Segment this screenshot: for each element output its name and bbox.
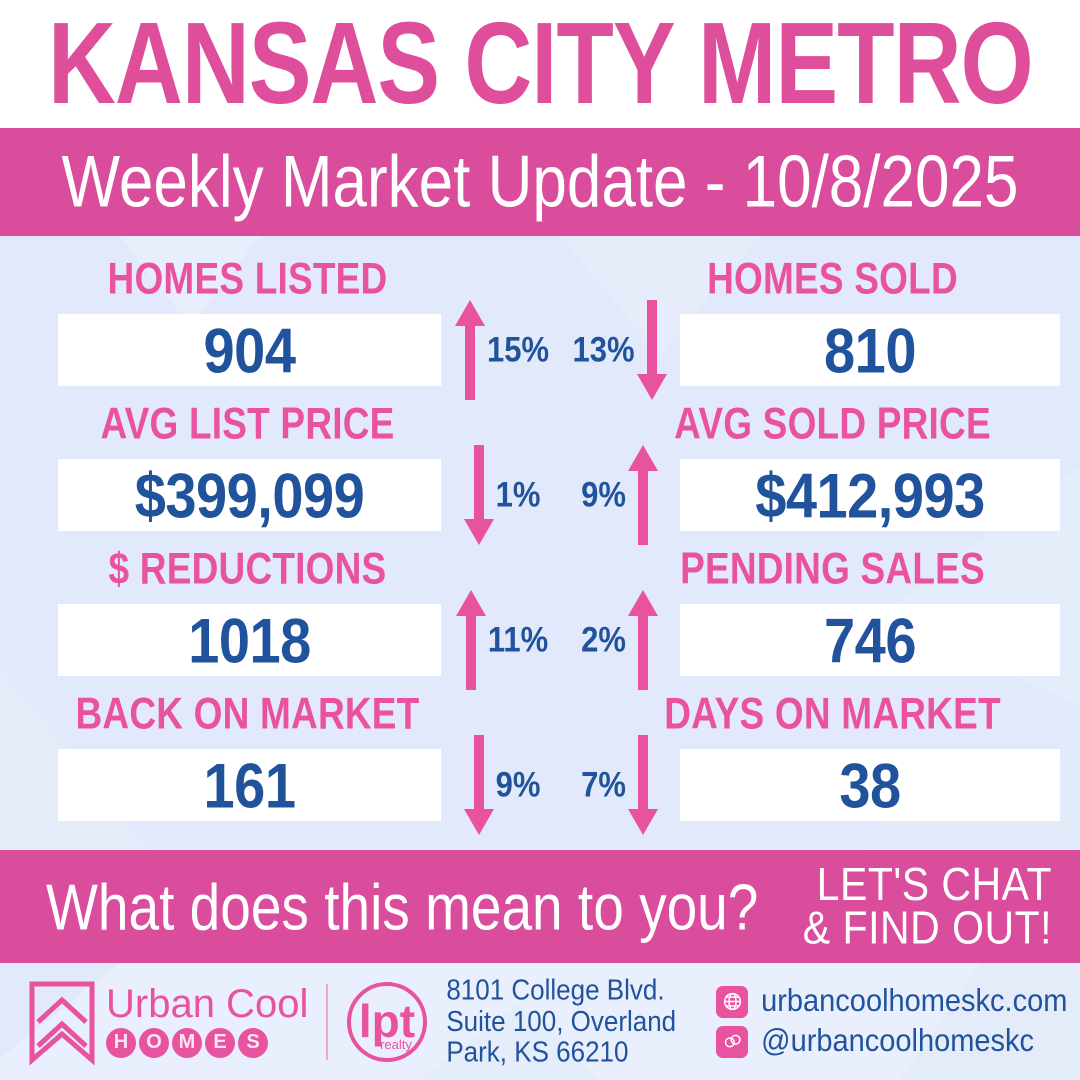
brand-logo: Urban Cool H O M E S <box>26 978 308 1066</box>
stat-label-back-on-market: BACK ON MARKET <box>0 689 551 739</box>
cta-line-2: & FIND OUT! <box>803 907 1052 950</box>
stat-value-box: 810 <box>680 314 1060 386</box>
stat-row: HOMES LISTED HOMES SOLD 904 15% 13% <box>0 250 1080 395</box>
arrow-down-icon <box>626 733 660 837</box>
stat-value-avg-sold-price: $412,993 <box>755 459 985 532</box>
office-address: 8101 College Blvd. Suite 100, Overland P… <box>446 975 676 1068</box>
brand-homes-badges: H O M E S <box>106 1028 308 1058</box>
cta-banner: What does this mean to you? LET'S CHAT &… <box>0 850 1080 963</box>
stat-value-avg-list-price: $399,099 <box>135 459 365 532</box>
social-link[interactable]: @urbancoolhomeskc <box>716 1025 1067 1058</box>
stat-value-homes-sold: 810 <box>824 314 916 387</box>
stat-pct-dollar-reductions: 11% <box>488 619 548 660</box>
social-link-icon <box>716 1026 748 1058</box>
arrow-down-icon <box>462 443 496 547</box>
subtitle-banner: Weekly Market Update - 10/8/2025 <box>0 128 1080 236</box>
stat-pct-homes-sold: 13% <box>572 329 634 370</box>
stat-value-dollar-reductions: 1018 <box>188 604 311 677</box>
stat-value-pending-sales: 746 <box>824 604 916 677</box>
globe-icon <box>716 986 748 1018</box>
social-handle: @urbancoolhomeskc <box>761 1023 1034 1059</box>
stat-value-box: $412,993 <box>680 459 1060 531</box>
stat-value-box: 38 <box>680 749 1060 821</box>
arrow-up-icon <box>454 588 488 692</box>
arrow-down-icon <box>462 733 496 837</box>
stat-label-avg-list-price: AVG LIST PRICE <box>0 399 551 449</box>
stat-pct-days-on-market: 7% <box>581 764 626 805</box>
address-line: Park, KS 66210 <box>446 1037 676 1068</box>
website-url: urbancoolhomeskc.com <box>761 983 1067 1019</box>
lpt-realty-logo-icon: lpt realty <box>344 979 430 1065</box>
header-banner: KANSAS CITY METRO <box>0 0 1080 128</box>
urban-cool-homes-chevron-icon <box>26 978 98 1066</box>
stat-value-box: 746 <box>680 604 1060 676</box>
badge-letter: S <box>238 1028 268 1058</box>
stats-grid: HOMES LISTED HOMES SOLD 904 15% 13% <box>0 236 1080 830</box>
arrow-up-icon <box>626 588 660 692</box>
cta-question-text: What does this mean to you? <box>46 869 758 945</box>
stat-label-days-on-market: DAYS ON MARKET <box>551 689 1080 739</box>
stat-pct-avg-list-price: 1% <box>496 474 541 515</box>
stat-delta-homes-sold: 13% <box>561 314 680 386</box>
stat-row: $ REDUCTIONS PENDING SALES 1018 11% 2% <box>0 540 1080 685</box>
stat-row: BACK ON MARKET DAYS ON MARKET 161 9% 7% <box>0 685 1080 830</box>
stats-section: HOMES LISTED HOMES SOLD 904 15% 13% <box>0 236 1080 850</box>
badge-letter: M <box>172 1028 202 1058</box>
badge-letter: O <box>139 1028 169 1058</box>
arrow-down-icon <box>635 298 669 402</box>
svg-text:realty: realty <box>380 1037 412 1052</box>
stat-pct-pending-sales: 2% <box>581 619 626 660</box>
website-link[interactable]: urbancoolhomeskc.com <box>716 985 1067 1018</box>
stat-label-dollar-reductions: $ REDUCTIONS <box>0 544 551 594</box>
stat-value-box: 904 <box>58 314 441 386</box>
badge-letter: E <box>205 1028 235 1058</box>
arrow-up-icon <box>626 443 660 547</box>
stat-label-homes-sold: HOMES SOLD <box>551 254 1080 304</box>
stat-row: AVG LIST PRICE AVG SOLD PRICE $399,099 1… <box>0 395 1080 540</box>
stat-value-box: $399,099 <box>58 459 441 531</box>
stat-value-back-on-market: 161 <box>204 749 296 822</box>
stat-value-box: 161 <box>58 749 441 821</box>
address-line: 8101 College Blvd. <box>446 975 676 1006</box>
stat-delta-back-on-market: 9% <box>441 749 561 821</box>
address-line: Suite 100, Overland <box>446 1006 676 1037</box>
stat-pct-homes-listed: 15% <box>487 329 549 370</box>
stat-label-homes-listed: HOMES LISTED <box>0 254 551 304</box>
brand-name: Urban Cool <box>106 982 308 1026</box>
stat-pct-back-on-market: 9% <box>496 764 541 805</box>
footer-bar: Urban Cool H O M E S lpt realty 8101 Col… <box>0 963 1080 1080</box>
cta-action-text[interactable]: LET'S CHAT & FIND OUT! <box>803 864 1052 950</box>
subtitle-text: Weekly Market Update - 10/8/2025 <box>62 140 1019 224</box>
stat-delta-days-on-market: 7% <box>561 749 680 821</box>
stat-value-box: 1018 <box>58 604 441 676</box>
stat-label-avg-sold-price: AVG SOLD PRICE <box>551 399 1080 449</box>
badge-letter: H <box>106 1028 136 1058</box>
stat-delta-dollar-reductions: 11% <box>441 604 561 676</box>
stat-pct-avg-sold-price: 9% <box>581 474 626 515</box>
stat-delta-avg-sold-price: 9% <box>561 459 680 531</box>
stat-label-pending-sales: PENDING SALES <box>551 544 1080 594</box>
stat-delta-avg-list-price: 1% <box>441 459 561 531</box>
arrow-up-icon <box>453 298 487 402</box>
brand-wordmark: Urban Cool H O M E S <box>106 985 308 1057</box>
contact-links: urbancoolhomeskc.com @urbancoolhomeskc <box>716 985 1067 1058</box>
stat-value-days-on-market: 38 <box>839 749 900 822</box>
stat-delta-homes-listed: 15% <box>441 314 561 386</box>
page-title: KANSAS CITY METRO <box>48 0 1033 130</box>
cta-line-1: LET'S CHAT <box>803 864 1052 907</box>
footer-divider <box>326 984 328 1060</box>
stat-delta-pending-sales: 2% <box>561 604 680 676</box>
stat-value-homes-listed: 904 <box>204 314 296 387</box>
